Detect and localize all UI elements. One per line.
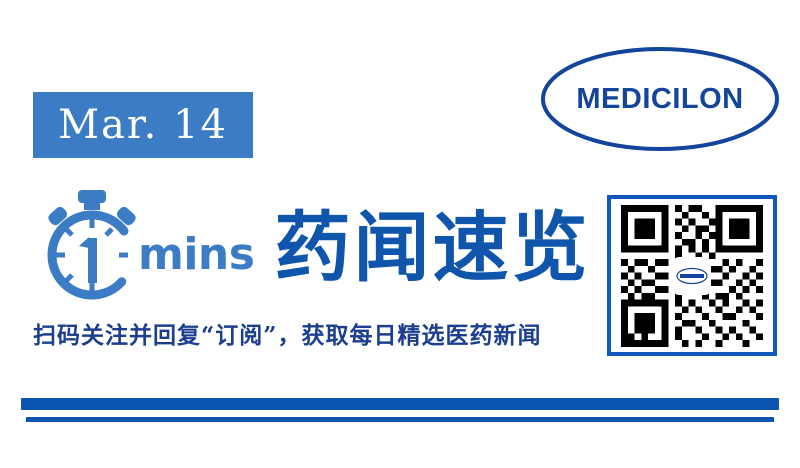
headline-row: mins 药闻速览 (36, 186, 590, 306)
stopwatch-icon (36, 188, 148, 304)
qr-code-frame (607, 195, 777, 356)
date-badge: Mar. 14 (33, 92, 253, 158)
mins-label: mins (138, 233, 254, 277)
footer-rule-thick (21, 398, 779, 410)
medicilon-logo: MEDICILON (540, 46, 780, 152)
footer-rule-thin (26, 417, 774, 422)
sub-caption: 扫码关注并回复“订阅”，获取每日精选医药新闻 (33, 322, 578, 351)
qr-center-medicilon-logo (673, 257, 711, 295)
headline-chinese-title: 药闻速览 (274, 210, 590, 286)
medicilon-wordmark: MEDICILON (540, 46, 780, 152)
poster-canvas: Mar. 14 MEDICILON (0, 0, 800, 468)
qr-code-image (621, 205, 763, 347)
date-badge-label: Mar. 14 (58, 105, 228, 145)
